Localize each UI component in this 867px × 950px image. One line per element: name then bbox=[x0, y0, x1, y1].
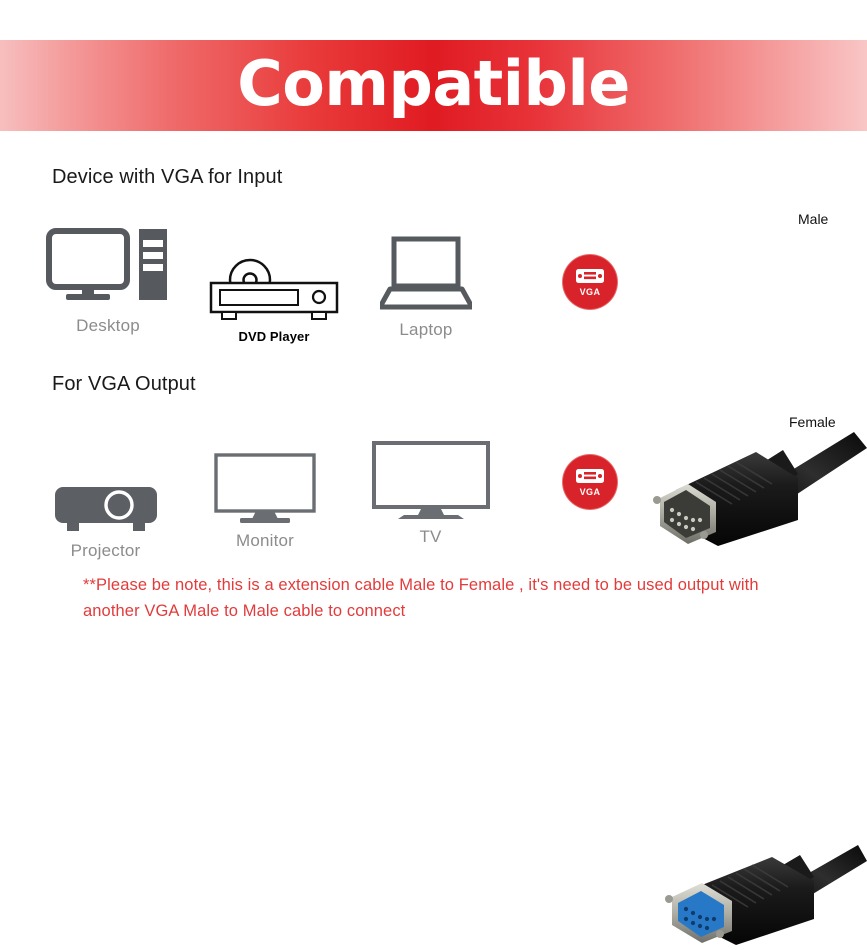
section-heading-input: Device with VGA for Input bbox=[52, 166, 282, 189]
device-dvd-player: DVD Player bbox=[194, 238, 354, 344]
device-label-tv: TV bbox=[348, 527, 513, 547]
page-title: Compatible bbox=[237, 53, 630, 115]
vga-badge-input: VGA bbox=[563, 255, 617, 309]
device-laptop: Laptop bbox=[352, 226, 500, 340]
connector-label-male: Male bbox=[798, 211, 828, 227]
vga-female-connector-photo bbox=[648, 833, 867, 950]
laptop-icon bbox=[352, 226, 500, 314]
header-banner: Compatible bbox=[0, 40, 867, 131]
device-monitor: Monitor bbox=[190, 437, 340, 551]
vga-badge-label: VGA bbox=[580, 287, 601, 297]
monitor-icon bbox=[190, 437, 340, 525]
device-tv: TV bbox=[348, 433, 513, 547]
device-projector: Projector bbox=[28, 447, 183, 561]
vga-badge-output: VGA bbox=[563, 455, 617, 509]
vga-badge-label: VGA bbox=[580, 487, 601, 497]
device-label-projector: Projector bbox=[28, 541, 183, 561]
connector-label-female: Female bbox=[789, 414, 836, 430]
output-devices-row: Projector Monitor TV bbox=[0, 405, 867, 560]
vga-connector-icon bbox=[574, 467, 606, 485]
warning-note: **Please be note, this is a extension ca… bbox=[83, 573, 783, 624]
projector-icon bbox=[28, 447, 183, 535]
desktop-computer-icon bbox=[28, 222, 188, 310]
input-devices-row: Desktop DVD Player Laptop bbox=[0, 200, 867, 350]
dvd-player-icon bbox=[194, 238, 354, 326]
device-label-dvd-player: DVD Player bbox=[194, 329, 354, 344]
device-label-laptop: Laptop bbox=[352, 320, 500, 340]
device-label-desktop: Desktop bbox=[28, 316, 188, 336]
section-heading-output: For VGA Output bbox=[52, 373, 196, 396]
tv-icon bbox=[348, 433, 513, 521]
device-label-monitor: Monitor bbox=[190, 531, 340, 551]
vga-connector-icon bbox=[574, 267, 606, 285]
device-desktop: Desktop bbox=[28, 222, 188, 336]
